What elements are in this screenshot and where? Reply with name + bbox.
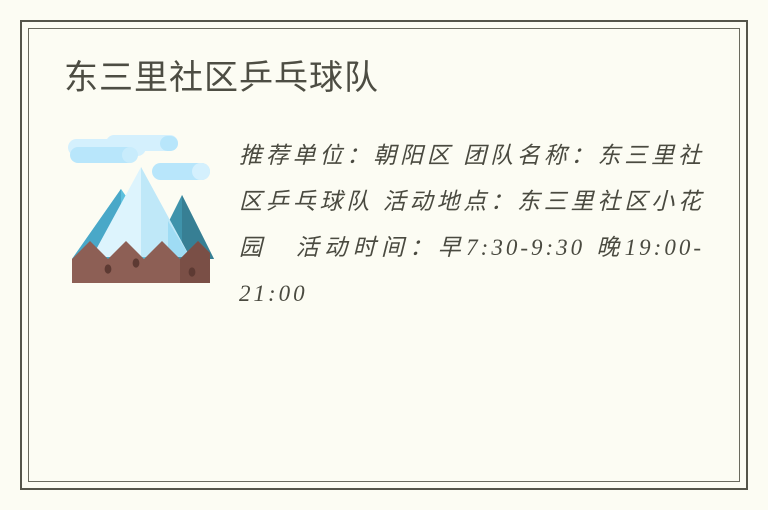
article-body: 推荐单位：朝阳区 团队名称：东三里社区乒乓球队 活动地点：东三里社区小花园 活动… <box>64 133 704 317</box>
article-body-text: 推荐单位：朝阳区 团队名称：东三里社区乒乓球队 活动地点：东三里社区小花园 活动… <box>239 143 704 306</box>
article-content: 东三里社区乒乓球队 <box>36 36 732 474</box>
page-title: 东三里社区乒乓球队 <box>64 58 704 99</box>
mountain-landscape-image <box>64 133 217 283</box>
